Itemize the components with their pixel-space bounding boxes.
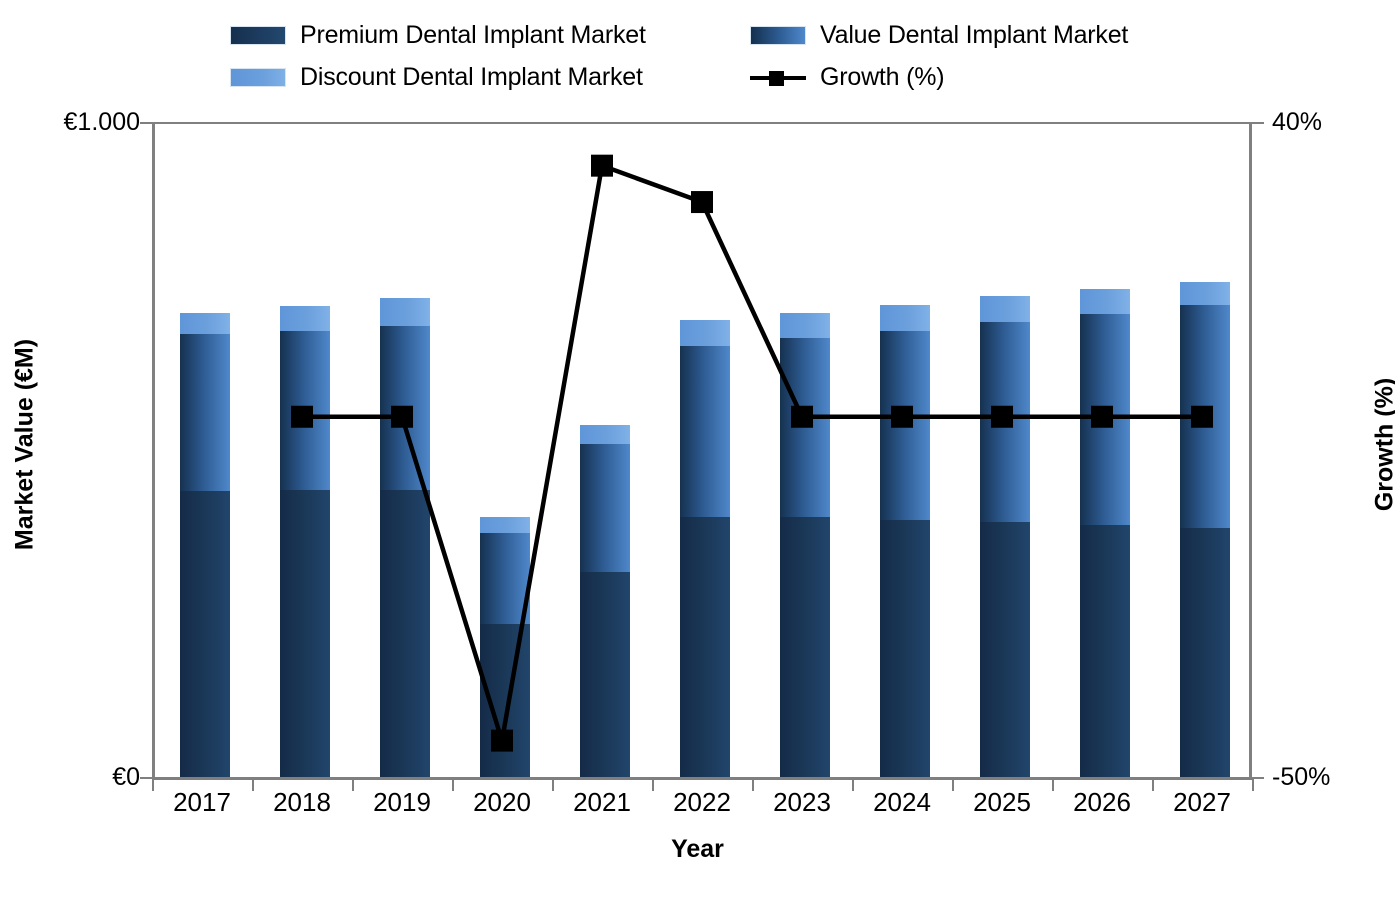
chart-legend: Premium Dental Implant Market Value Dent…	[0, 18, 1395, 98]
y-axis-left-tick-bottom: €0	[0, 763, 140, 792]
bar-segment-premium[interactable]	[1080, 525, 1130, 779]
bar-segment-premium[interactable]	[380, 490, 430, 779]
bar-segment-premium[interactable]	[580, 572, 630, 779]
x-axis-label: 2022	[652, 787, 752, 818]
bar-slot	[855, 124, 955, 779]
bar-segment-discount[interactable]	[980, 296, 1030, 322]
y-axis-left-tick-top: €1.000	[0, 108, 140, 137]
x-axis-label: 2017	[152, 787, 252, 818]
legend-item-premium[interactable]: Premium Dental Implant Market	[230, 18, 646, 52]
bar-slot	[1055, 124, 1155, 779]
legend-item-discount[interactable]: Discount Dental Implant Market	[230, 60, 643, 94]
stacked-bar[interactable]	[780, 313, 830, 779]
bar-segment-discount[interactable]	[180, 313, 230, 334]
x-axis-label: 2026	[1052, 787, 1152, 818]
y-axis-left-title: Market Value (€M)	[11, 245, 40, 645]
bar-segment-discount[interactable]	[580, 425, 630, 443]
bar-segment-value[interactable]	[880, 331, 930, 520]
x-axis-line	[152, 777, 1252, 780]
x-axis-label: 2023	[752, 787, 852, 818]
legend-item-growth[interactable]: Growth (%)	[750, 60, 944, 94]
bar-segment-discount[interactable]	[1180, 282, 1230, 305]
y-axis-right-tick	[1251, 122, 1264, 124]
stacked-bar[interactable]	[580, 425, 630, 779]
x-axis-label: 2021	[552, 787, 652, 818]
bar-segment-premium[interactable]	[680, 517, 730, 779]
value-swatch-icon	[750, 26, 806, 45]
bar-slot	[555, 124, 655, 779]
y-axis-left-tick	[140, 777, 153, 779]
x-axis-tick	[1252, 777, 1254, 791]
bar-segment-premium[interactable]	[1180, 528, 1230, 779]
bar-segment-discount[interactable]	[780, 313, 830, 339]
y-axis-right-tick	[1251, 777, 1264, 779]
bar-segment-premium[interactable]	[180, 491, 230, 779]
bar-segment-premium[interactable]	[980, 522, 1030, 779]
legend-label-value: Value Dental Implant Market	[820, 21, 1128, 50]
legend-item-value[interactable]: Value Dental Implant Market	[750, 18, 1128, 52]
bar-slot	[255, 124, 355, 779]
bar-segment-value[interactable]	[480, 533, 530, 624]
stacked-bar[interactable]	[880, 305, 930, 779]
bar-slot	[1155, 124, 1255, 779]
bar-slot	[755, 124, 855, 779]
stacked-bar[interactable]	[180, 313, 230, 779]
y-axis-right-tick-top: 40%	[1272, 108, 1395, 137]
stacked-bar[interactable]	[1180, 282, 1230, 779]
discount-swatch-icon	[230, 68, 286, 87]
bar-segment-premium[interactable]	[280, 490, 330, 779]
plot-area	[152, 122, 1252, 777]
x-axis-label: 2025	[952, 787, 1052, 818]
stacked-bar[interactable]	[980, 296, 1030, 779]
bar-segment-discount[interactable]	[480, 517, 530, 533]
bar-slot	[455, 124, 555, 779]
chart-root: Premium Dental Implant Market Value Dent…	[0, 0, 1395, 900]
legend-label-growth: Growth (%)	[820, 63, 944, 92]
x-axis-label: 2020	[452, 787, 552, 818]
bar-slot	[355, 124, 455, 779]
growth-line-marker-icon	[750, 68, 806, 87]
bar-segment-value[interactable]	[780, 338, 830, 517]
stacked-bar[interactable]	[480, 517, 530, 779]
x-axis-title: Year	[0, 835, 1395, 864]
bar-slot	[155, 124, 255, 779]
bar-slot	[655, 124, 755, 779]
y-axis-right-title: Growth (%)	[1371, 245, 1395, 645]
y-axis-left-tick	[140, 122, 153, 124]
stacked-bar[interactable]	[680, 320, 730, 779]
x-axis-label: 2018	[252, 787, 352, 818]
bar-segment-discount[interactable]	[380, 298, 430, 326]
premium-swatch-icon	[230, 26, 286, 45]
bar-segment-discount[interactable]	[880, 305, 930, 331]
y-axis-right-tick-bottom: -50%	[1272, 763, 1395, 792]
bar-segment-discount[interactable]	[280, 306, 330, 331]
bar-segment-discount[interactable]	[1080, 289, 1130, 314]
legend-label-premium: Premium Dental Implant Market	[300, 21, 646, 50]
bar-segment-value[interactable]	[680, 346, 730, 517]
bar-segment-value[interactable]	[980, 322, 1030, 522]
stacked-bar[interactable]	[280, 306, 330, 779]
bar-segment-discount[interactable]	[680, 320, 730, 346]
bar-segment-premium[interactable]	[480, 624, 530, 779]
bar-segment-value[interactable]	[1180, 305, 1230, 528]
bar-segment-premium[interactable]	[880, 520, 930, 779]
stacked-bar[interactable]	[380, 298, 430, 779]
bar-segment-premium[interactable]	[780, 517, 830, 779]
legend-label-discount: Discount Dental Implant Market	[300, 63, 643, 92]
stacked-bar[interactable]	[1080, 289, 1130, 779]
x-axis-label: 2019	[352, 787, 452, 818]
bar-series-container	[155, 124, 1255, 779]
x-axis-label: 2024	[852, 787, 952, 818]
bar-slot	[955, 124, 1055, 779]
bar-segment-value[interactable]	[380, 326, 430, 490]
x-axis-label: 2027	[1152, 787, 1252, 818]
bar-segment-value[interactable]	[580, 444, 630, 572]
bar-segment-value[interactable]	[1080, 314, 1130, 525]
bar-segment-value[interactable]	[180, 334, 230, 491]
bar-segment-value[interactable]	[280, 331, 330, 490]
